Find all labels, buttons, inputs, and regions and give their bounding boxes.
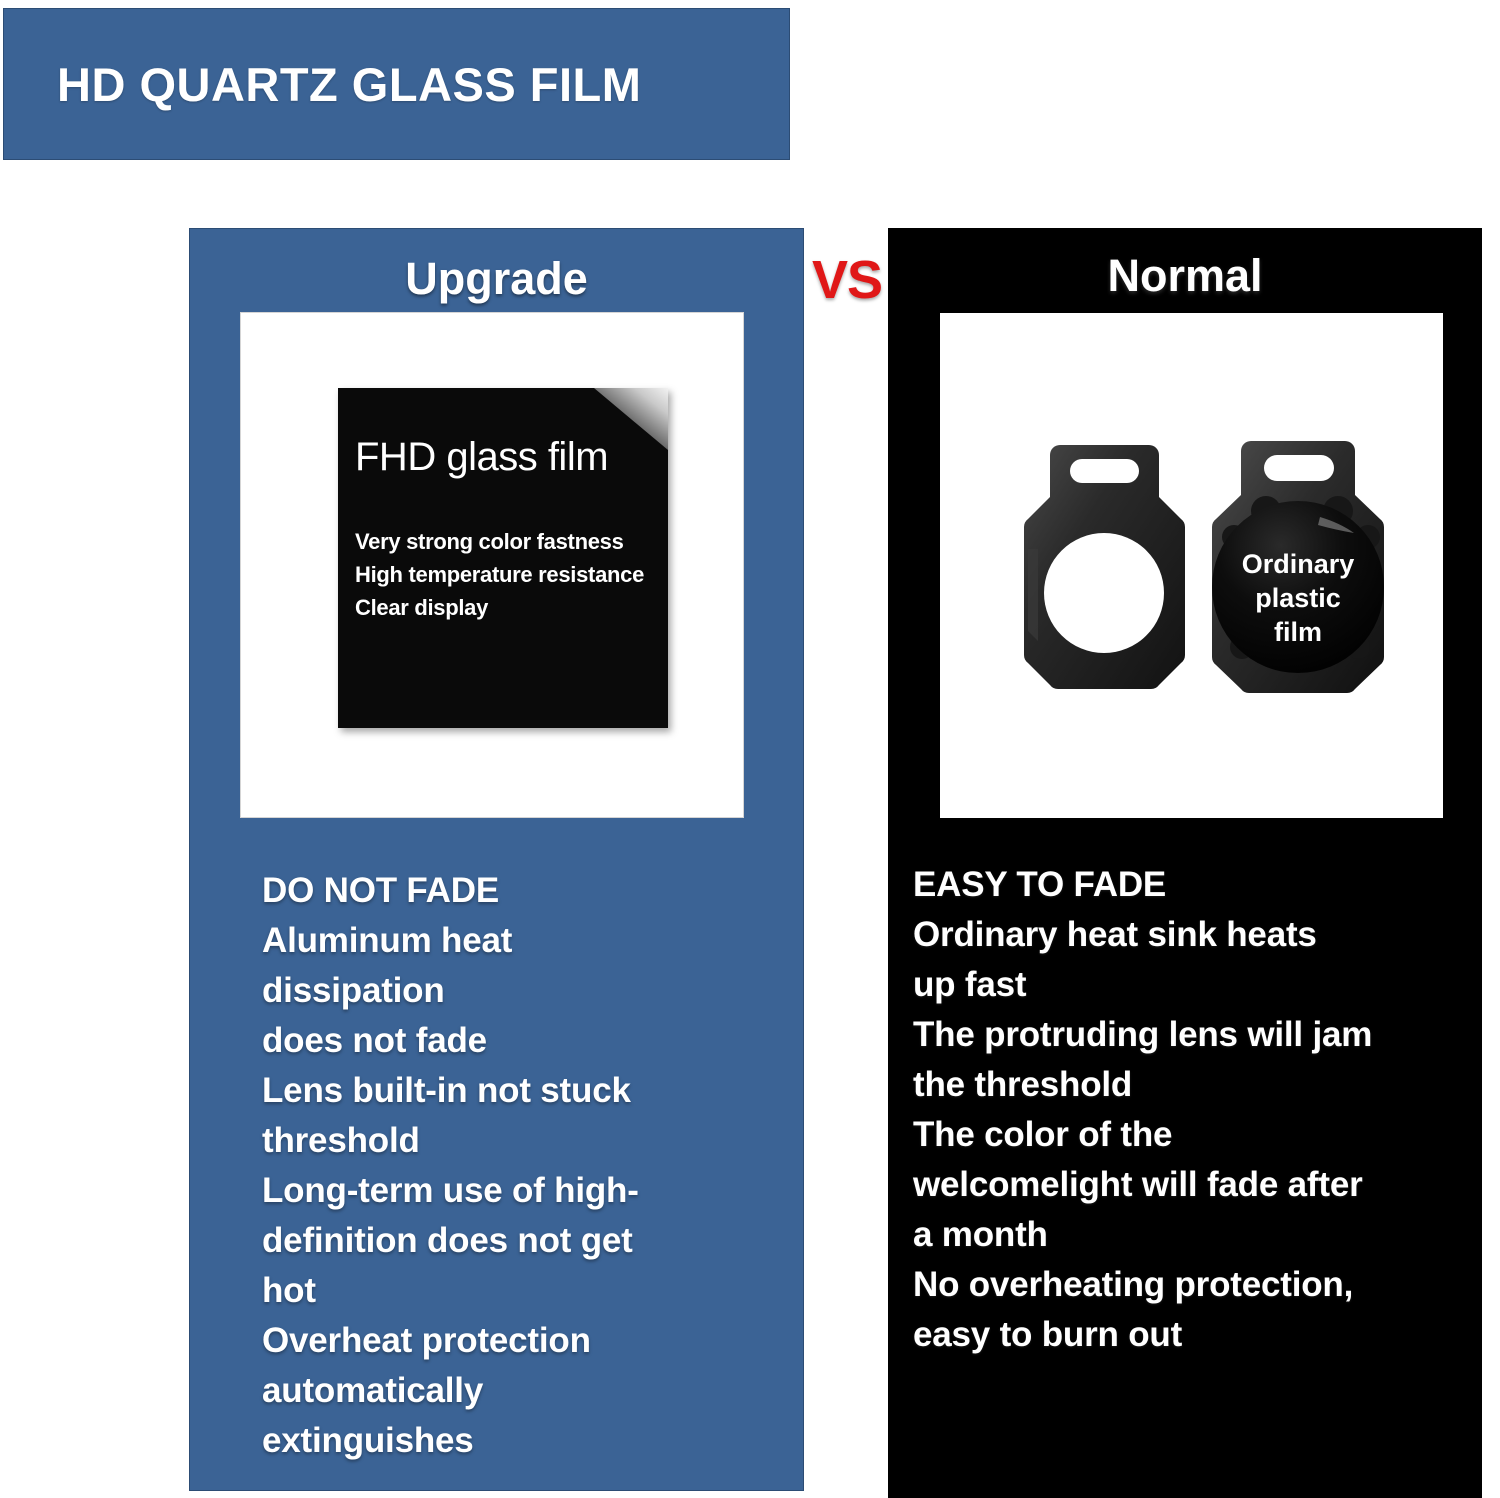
list-item: does not fade <box>262 1016 732 1066</box>
svg-text:Ordinary: Ordinary <box>1242 549 1355 579</box>
list-item: No overheating protection, <box>913 1260 1473 1310</box>
list-item: Lens built-in not stuck <box>262 1066 732 1116</box>
normal-product-image: Ordinary plastic film <box>940 313 1443 818</box>
list-item: automatically <box>262 1366 732 1416</box>
svg-text:plastic: plastic <box>1255 583 1341 613</box>
fhd-film-card: FHD glass film Very strong color fastnes… <box>338 388 668 728</box>
list-item: easy to burn out <box>913 1310 1473 1360</box>
list-item: extinguishes <box>262 1416 732 1466</box>
list-item: Clear display <box>355 591 665 624</box>
svg-text:film: film <box>1274 617 1322 647</box>
list-item: The protruding lens will jam <box>913 1010 1473 1060</box>
list-item: hot <box>262 1266 732 1316</box>
list-item: welcomelight will fade after <box>913 1160 1473 1210</box>
list-item: Very strong color fastness <box>355 525 665 558</box>
list-item: Overheat protection <box>262 1316 732 1366</box>
panel-upgrade-heading: Upgrade <box>190 253 803 305</box>
film-card-title: FHD glass film <box>355 435 608 480</box>
lens-cover-with-film-icon: Ordinary plastic film <box>1198 437 1398 705</box>
film-card-feature-list: Very strong color fastness High temperat… <box>355 525 665 624</box>
lens-cover-photo: Ordinary plastic film <box>940 313 1443 818</box>
header-banner: HD QUARTZ GLASS FILM <box>3 8 790 160</box>
list-item: the threshold <box>913 1060 1473 1110</box>
normal-drawback-list: EASY TO FADE Ordinary heat sink heats up… <box>913 860 1473 1360</box>
page-title: HD QUARTZ GLASS FILM <box>4 57 641 112</box>
list-item: EASY TO FADE <box>913 860 1473 910</box>
upgrade-product-image: FHD glass film Very strong color fastnes… <box>240 312 744 818</box>
list-item: a month <box>913 1210 1473 1260</box>
list-item: up fast <box>913 960 1473 1010</box>
list-item: dissipation <box>262 966 732 1016</box>
list-item: The color of the <box>913 1110 1473 1160</box>
vs-badge: VS <box>812 249 882 311</box>
list-item: Long-term use of high- <box>262 1166 732 1216</box>
list-item: DO NOT FADE <box>262 866 732 916</box>
list-item: definition does not get <box>262 1216 732 1266</box>
list-item: threshold <box>262 1116 732 1166</box>
list-item: High temperature resistance <box>355 558 665 591</box>
list-item: Ordinary heat sink heats <box>913 910 1473 960</box>
list-item: Aluminum heat <box>262 916 732 966</box>
upgrade-benefit-list: DO NOT FADE Aluminum heat dissipation do… <box>262 866 732 1466</box>
lens-cover-ring-icon <box>1012 441 1197 701</box>
panel-normal-heading: Normal <box>888 250 1482 302</box>
